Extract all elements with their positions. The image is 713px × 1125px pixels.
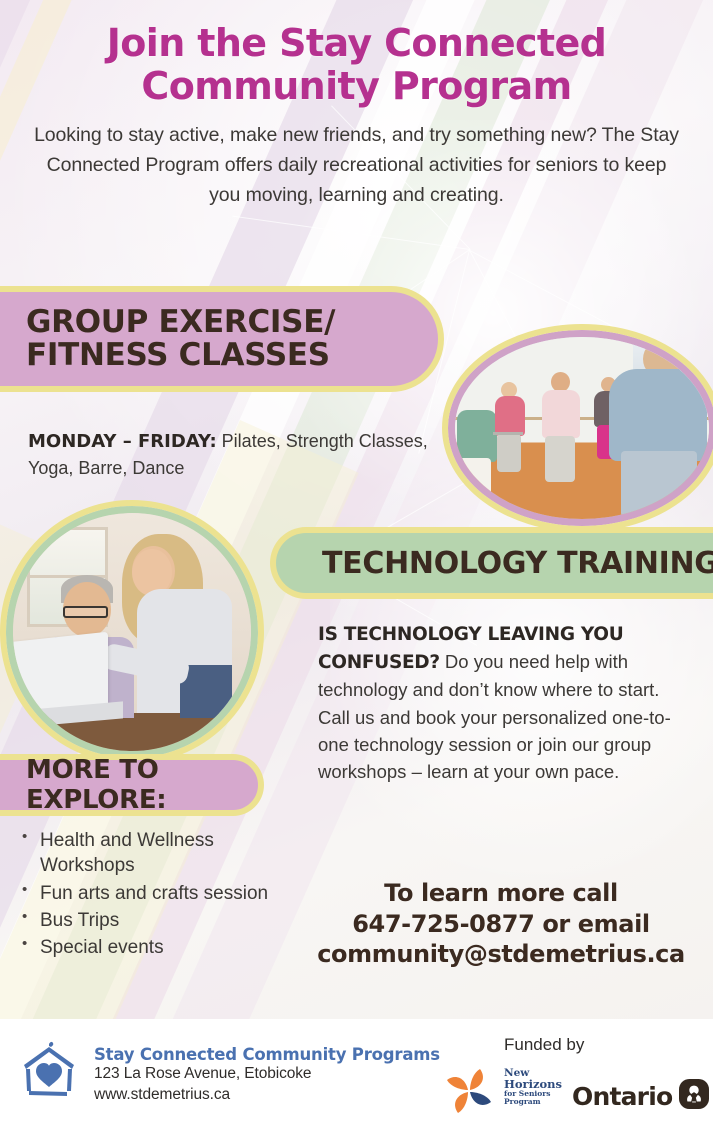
photo-content [455, 337, 709, 519]
intro-paragraph: Looking to stay active, make new friends… [34, 120, 679, 211]
exerciser [489, 378, 531, 486]
band-more-to-explore: MORE TO EXPLORE: [0, 754, 264, 816]
band-technology-training: TECHNOLOGY TRAINING [270, 527, 713, 599]
footer-website[interactable]: www.stdemetrius.ca [94, 1085, 440, 1106]
page-title-line-1: Join the Stay Connected [107, 21, 607, 65]
exerciser-foreground [603, 339, 709, 519]
cta-line-2[interactable]: 647-725-0877 or email [352, 910, 649, 938]
new-horizons-pinwheel-icon [437, 1065, 501, 1117]
band-more-to-explore-label: MORE TO EXPLORE: [26, 755, 258, 815]
footer-address: 123 La Rose Avenue, Etobicoke [94, 1064, 440, 1085]
senior-laptop-photo [6, 506, 258, 758]
exercise-schedule-lead: MONDAY – FRIDAY: [28, 431, 217, 452]
exerciser-torso [495, 396, 525, 436]
funded-by-label: Funded by [504, 1035, 584, 1055]
exerciser-legs [545, 436, 575, 482]
man-glasses [63, 606, 108, 618]
list-item: Fun arts and crafts session [18, 881, 288, 906]
page-title-line-2: Community Program [141, 64, 571, 108]
list-item: Health and Wellness Workshops [18, 828, 288, 879]
exerciser-torso [542, 390, 580, 438]
ontario-logo: Ontario [572, 1079, 709, 1114]
new-horizons-wordmark: New Horizons for Seniors Program [504, 1068, 568, 1105]
new-horizons-line-4: Program [504, 1098, 568, 1106]
ontario-wordmark: Ontario [572, 1082, 672, 1111]
exerciser-legs [459, 458, 491, 504]
house-with-heart-icon [12, 1035, 86, 1109]
band-group-exercise-line-1: GROUP EXERCISE/ [26, 304, 335, 340]
exerciser-torso [609, 369, 707, 461]
cta-line-1: To learn more call [384, 879, 618, 907]
footer: Stay Connected Community Programs 123 La… [0, 1019, 713, 1125]
band-group-exercise: GROUP EXERCISE/ FITNESS CLASSES [0, 286, 444, 392]
call-to-action: To learn more call 647-725-0877 or email… [296, 878, 706, 970]
band-technology-training-label: TECHNOLOGY TRAINING [322, 546, 713, 581]
exerciser-legs [621, 451, 697, 517]
explore-list: Health and Wellness Workshops Fun arts a… [18, 828, 288, 962]
list-item: Bus Trips [18, 908, 288, 933]
ontario-trillium-icon [679, 1079, 709, 1114]
technology-copy: IS TECHNOLOGY LEAVING YOU CONFUSED? Do y… [318, 620, 696, 785]
exercise-schedule-copy: MONDAY – FRIDAY: Pilates, Strength Class… [28, 428, 428, 481]
footer-org-name: Stay Connected Community Programs [94, 1045, 440, 1064]
list-item: Special events [18, 935, 288, 960]
photo-content [13, 513, 251, 751]
poster: Join the Stay Connected Community Progra… [0, 0, 713, 1125]
cta-line-3[interactable]: community@stdemetrius.ca [317, 940, 685, 968]
exerciser [537, 370, 589, 494]
band-group-exercise-line-2: FITNESS CLASSES [26, 337, 330, 373]
exerciser-head [551, 372, 570, 392]
exerciser-chair [493, 432, 523, 435]
page-title: Join the Stay Connected Community Progra… [0, 22, 713, 108]
footer-org-block: Stay Connected Community Programs 123 La… [94, 1045, 440, 1106]
seniors-group-exercise-photo [448, 330, 713, 526]
exerciser-legs [497, 434, 521, 472]
